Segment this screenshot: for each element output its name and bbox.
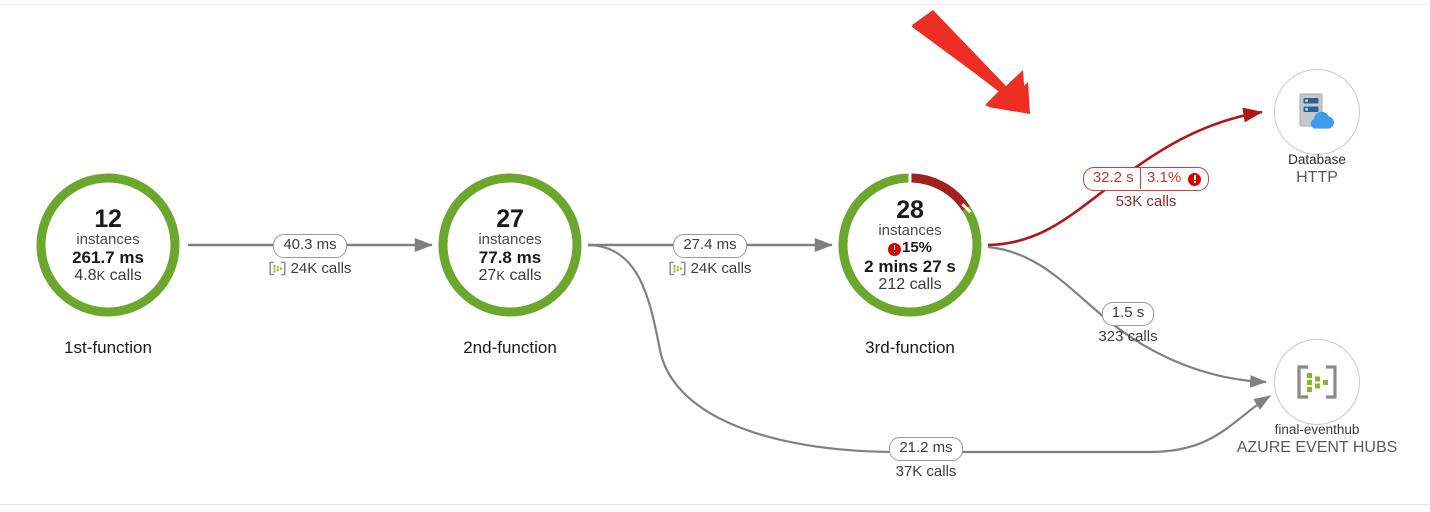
edge-label-1st-to-2nd[interactable]: 40.3 ms 24K calls: [196, 234, 424, 277]
edge-duration-pill[interactable]: 1.5 s: [1102, 302, 1155, 326]
node-error-rate: 15%: [888, 240, 932, 257]
node-final-eventhub[interactable]: [1274, 339, 1360, 425]
node-instance-count: 28: [896, 196, 923, 224]
event-hub-icon: [1296, 364, 1338, 400]
node-label-2nd-function: 2nd-function: [380, 338, 640, 358]
edge-duration-pill[interactable]: 27.4 ms: [673, 234, 746, 258]
application-map-canvas[interactable]: 12 instances 261.7 ms 4.8K calls 1st-fun…: [0, 0, 1430, 512]
edge-label-3rd-to-database[interactable]: 32.2 s 3.1% 53K calls: [1036, 167, 1256, 210]
leaf-title: final-eventhub: [1177, 422, 1430, 437]
edge-calls-row: 323 calls: [1066, 328, 1190, 345]
edge-calls: 24K calls: [691, 260, 752, 277]
node-instance-caption: instances: [878, 223, 941, 240]
leaf-title: Database: [1177, 152, 1430, 167]
edge-duration-pill[interactable]: 21.2 ms: [889, 437, 962, 461]
node-1st-function[interactable]: 12 instances 261.7 ms 4.8K calls: [34, 171, 182, 319]
node-calls: 212 calls: [878, 276, 941, 294]
node-error-percent: 15%: [902, 240, 932, 257]
node-instance-caption: instances: [478, 232, 541, 249]
node-2nd-function[interactable]: 27 instances 77.8 ms 27K calls: [436, 171, 584, 319]
node-calls: 27K calls: [479, 267, 542, 285]
edge-calls-row: 53K calls: [1036, 193, 1256, 210]
top-divider: [0, 4, 1430, 5]
edge-calls-row: 24K calls: [596, 260, 824, 277]
edge-duration: 32.2 s: [1093, 169, 1134, 188]
pill-divider: [1140, 168, 1141, 189]
node-label-final-eventhub: final-eventhub AZURE EVENT HUBS: [1177, 420, 1430, 457]
node-label-3rd-function: 3rd-function: [780, 338, 1040, 358]
edge-calls: 323 calls: [1098, 328, 1157, 345]
node-instance-count: 12: [94, 205, 121, 233]
node-duration: 77.8 ms: [479, 248, 541, 267]
edge-duration-pill[interactable]: 32.2 s 3.1%: [1083, 167, 1209, 191]
node-instance-caption: instances: [76, 232, 139, 249]
edge-calls-row: 24K calls: [196, 260, 424, 277]
node-label-1st-function: 1st-function: [0, 338, 238, 358]
edge-error-percent: 3.1%: [1147, 169, 1181, 188]
red-arrow-annotation: [912, 10, 1031, 114]
error-badge-icon: [888, 243, 901, 256]
node-duration: 2 mins 27 s: [864, 257, 956, 276]
bottom-divider: [0, 504, 1430, 505]
edge-calls-row: 37K calls: [862, 463, 990, 480]
node-3rd-function[interactable]: 28 instances 15% 2 mins 27 s 212 calls: [836, 171, 984, 319]
event-hub-icon: [669, 261, 686, 276]
database-cloud-icon: [1295, 91, 1339, 133]
event-hub-icon: [269, 261, 286, 276]
edge-calls: 24K calls: [291, 260, 352, 277]
node-duration: 261.7 ms: [72, 248, 144, 267]
edge-label-3rd-to-eventhub[interactable]: 1.5 s 323 calls: [1066, 302, 1190, 345]
leaf-subtitle: AZURE EVENT HUBS: [1177, 439, 1430, 457]
node-instance-count: 27: [496, 205, 523, 233]
edge-calls: 53K calls: [1116, 193, 1177, 210]
edge-duration-pill[interactable]: 40.3 ms: [273, 234, 346, 258]
edge-calls: 37K calls: [896, 463, 957, 480]
node-calls: 4.8K calls: [74, 267, 141, 285]
node-database-http[interactable]: [1274, 69, 1360, 155]
edge-label-2nd-to-eventhub[interactable]: 21.2 ms 37K calls: [862, 437, 990, 480]
error-badge-icon: [1188, 173, 1201, 186]
edge-label-2nd-to-3rd[interactable]: 27.4 ms 24K calls: [596, 234, 824, 277]
